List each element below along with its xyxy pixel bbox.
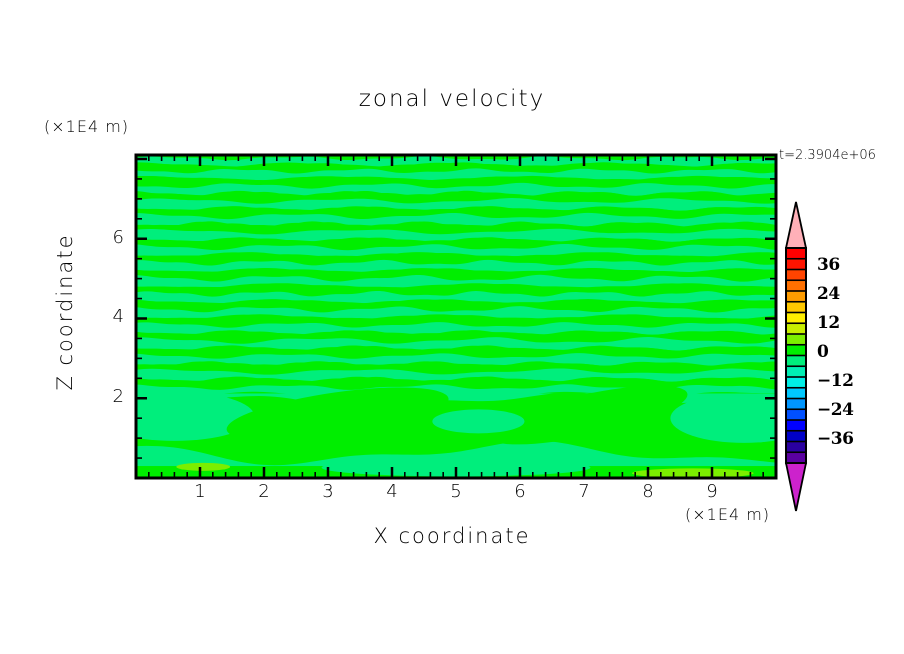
colorbar-band	[786, 313, 806, 324]
colorbar-tick-label: 12	[817, 313, 840, 333]
colorbar-tick-label: −12	[817, 371, 853, 391]
colorbar-band	[786, 431, 806, 442]
y-tick-label: 6	[84, 227, 124, 248]
colorbar-tick-label: 24	[817, 284, 840, 304]
x-tick-label: 9	[692, 481, 732, 502]
colorbar-band	[786, 442, 806, 453]
x-tick-label: 2	[244, 481, 284, 502]
colorbar	[786, 202, 806, 511]
colorbar-band	[786, 377, 806, 388]
x-tick-label: 7	[564, 481, 604, 502]
colorbar-band	[786, 270, 806, 281]
colorbar-band	[786, 280, 806, 291]
colorbar-band	[786, 334, 806, 345]
colorbar-under-arrow	[786, 463, 806, 511]
colorbar-band	[786, 345, 806, 356]
colorbar-band	[786, 259, 806, 270]
colorbar-band	[786, 452, 806, 463]
colorbar-band	[786, 356, 806, 367]
x-tick-label: 4	[372, 481, 412, 502]
contour-blob	[176, 463, 230, 471]
colorbar-band	[786, 366, 806, 377]
colorbar-tick-label: −36	[817, 429, 853, 449]
colorbar-band	[786, 323, 806, 334]
contour-blob	[432, 409, 524, 433]
x-tick-label: 8	[628, 481, 668, 502]
colorbar-tick-label: 0	[817, 342, 828, 362]
contour-plot-svg	[0, 0, 904, 654]
contour-field	[94, 155, 817, 478]
y-tick-label: 2	[84, 386, 124, 407]
colorbar-band	[786, 399, 806, 410]
colorbar-band	[786, 291, 806, 302]
colorbar-band	[786, 302, 806, 313]
x-tick-label: 3	[308, 481, 348, 502]
colorbar-tick-label: −24	[817, 400, 853, 420]
figure-root: zonal velocity (×1E4 m) (×1E4 m) t=2.390…	[0, 0, 904, 654]
colorbar-band	[786, 388, 806, 399]
colorbar-band	[786, 420, 806, 431]
colorbar-over-arrow	[786, 202, 806, 248]
x-tick-label: 5	[436, 481, 476, 502]
x-tick-label: 1	[180, 481, 220, 502]
x-tick-label: 6	[500, 481, 540, 502]
colorbar-band	[786, 409, 806, 420]
y-tick-label: 4	[84, 306, 124, 327]
colorbar-band	[786, 248, 806, 259]
colorbar-tick-label: 36	[817, 255, 840, 275]
